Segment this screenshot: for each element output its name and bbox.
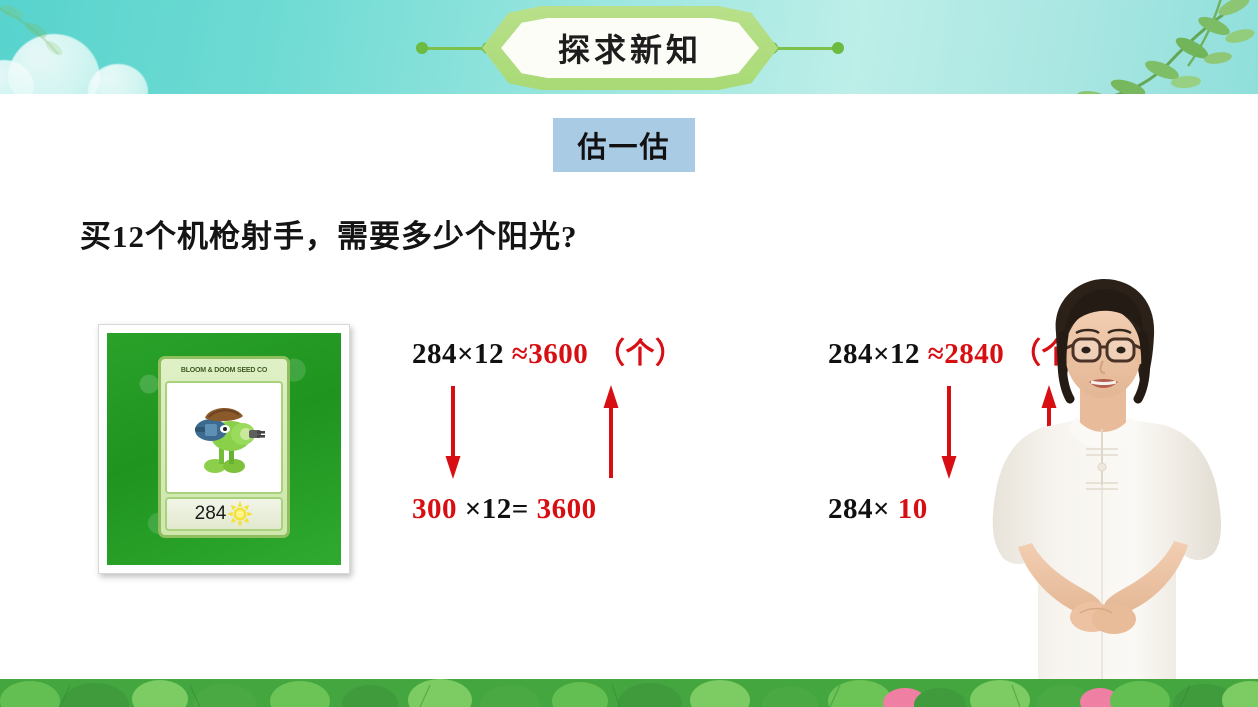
arrow-down-icon — [940, 384, 958, 480]
plaque-dot-icon — [416, 42, 428, 54]
seed-packet-cost: 284 — [165, 497, 283, 531]
question-text: 买12个机枪射手，需要多少个阳光? — [80, 211, 578, 256]
estimate-bottom-line: 300 ×12= 3600 — [412, 493, 597, 526]
product-result: 10 — [898, 493, 928, 525]
arrow-up-icon — [602, 384, 620, 480]
plaque-line-right — [768, 47, 840, 50]
title-plaque: 探求新知 — [420, 2, 840, 94]
unit-label: （个） — [1012, 338, 1101, 370]
slide-canvas: 探求新知 估一估 买12个机枪射手，需要多少个阳光? BLOOM & DOOM … — [0, 0, 1258, 707]
plaque-dot-icon — [832, 42, 844, 54]
expression-284x12: 284×12 — [828, 338, 920, 370]
leaf-vine-right-icon — [1028, 0, 1258, 94]
seed-packet-window — [165, 381, 283, 494]
estimate-top-line: 284×12 ≈3600 （个） — [412, 330, 684, 372]
subtitle-badge: 估一估 — [553, 118, 695, 172]
leaf-vine-left-icon — [0, 0, 110, 88]
seed-packet: BLOOM & DOOM SEED CO — [158, 356, 290, 538]
cost-value: 284 — [195, 504, 227, 523]
arrow-up-icon — [1040, 384, 1058, 480]
plaque-inner: 探求新知 — [501, 18, 759, 78]
subtitle-label: 估一估 — [577, 124, 670, 166]
foliage-icon — [0, 679, 1258, 707]
estimate-top-line: 284×12 ≈2840 （个） — [828, 330, 1100, 372]
arrow-down-icon — [444, 384, 462, 480]
seed-packet-card: BLOOM & DOOM SEED CO — [98, 324, 350, 574]
expression-284x12: 284×12 — [412, 338, 504, 370]
seed-packet-brand: BLOOM & DOOM SEED CO — [165, 363, 283, 378]
gatling-pea-icon — [179, 396, 269, 478]
rounded-factor: 300 — [412, 493, 457, 525]
approx-result: ≈2840 — [928, 338, 1004, 370]
estimate-bottom-line: 284× 10 — [828, 493, 928, 526]
plaque-frame: 探求新知 — [482, 6, 778, 90]
card-background: BLOOM & DOOM SEED CO — [107, 333, 341, 565]
product-result: 3600 — [537, 493, 597, 525]
header-band: 探求新知 — [0, 0, 1258, 94]
page-title: 探求新知 — [558, 25, 702, 71]
bottom-foliage-band — [0, 679, 1258, 707]
operator: ×12= — [465, 493, 529, 525]
unit-label: （个） — [596, 338, 685, 370]
sun-icon — [227, 501, 253, 527]
approx-result: ≈3600 — [512, 338, 588, 370]
rounded-factor: 284× — [828, 493, 890, 525]
